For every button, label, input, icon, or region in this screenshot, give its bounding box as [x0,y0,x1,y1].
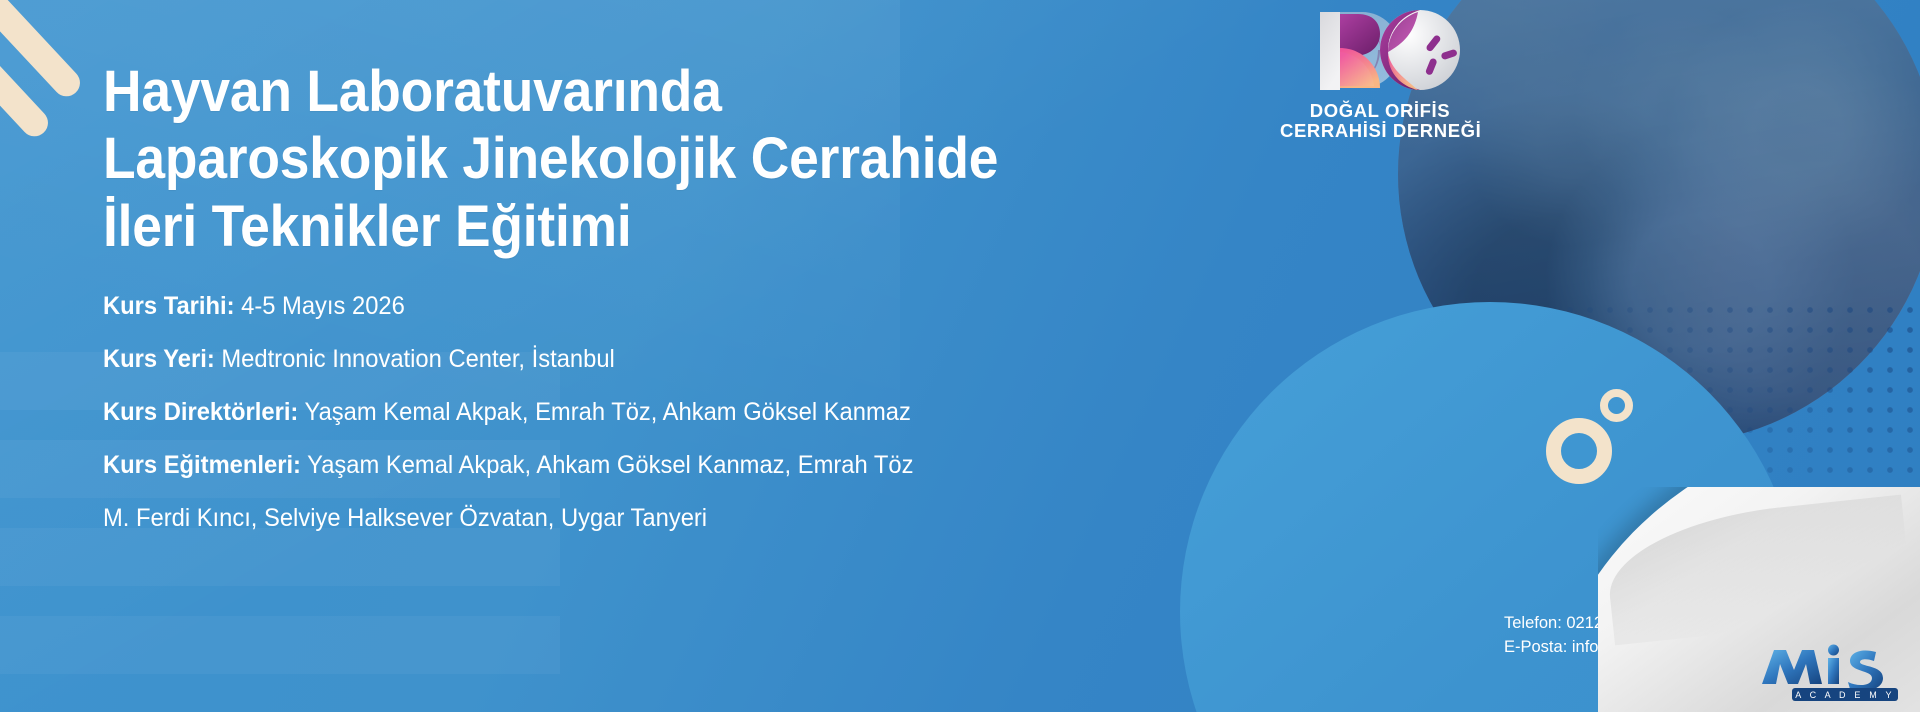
mis-academy-logo: A C A D E M Y [1756,636,1906,706]
association-name: DOĞAL ORİFİS CERRAHİSİ DERNEĞİ [1280,101,1480,141]
detail-label: Kurs Yeri: [103,345,215,373]
butterfly-do-mark-icon [1296,8,1464,94]
detail-row-date: Kurs Tarihi: 4-5 Mayıs 2026 [103,294,1186,319]
detail-row-instructors: Kurs Eğitmenleri: Yaşam Kemal Akpak, Ahk… [103,453,1186,478]
background-band [0,528,560,586]
title-line-2: Laparoskopik Jinekolojik Cerrahide [103,125,1152,192]
association-logo: DOĞAL ORİFİS CERRAHİSİ DERNEĞİ [1280,8,1480,148]
mis-academy-subtitle: A C A D E M Y [1795,690,1894,700]
detail-value: Yaşam Kemal Akpak, Emrah Töz, Ahkam Göks… [298,398,910,426]
banner-content: Hayvan Laboratuvarında Laparoskopik Jine… [103,58,1243,531]
association-name-line2: CERRAHİSİ DERNEĞİ [1280,121,1480,141]
title-line-1: Hayvan Laboratuvarında [103,58,1152,125]
page-title: Hayvan Laboratuvarında Laparoskopik Jine… [103,58,1152,260]
detail-label: Kurs Tarihi: [103,292,235,320]
detail-value: Medtronic Innovation Center, İstanbul [215,345,615,373]
decorative-ring-small [1600,389,1633,422]
background-band [0,616,560,674]
detail-value: 4-5 Mayıs 2026 [235,292,405,320]
detail-row-directors: Kurs Direktörleri: Yaşam Kemal Akpak, Em… [103,400,1186,425]
course-details: Kurs Tarihi: 4-5 Mayıs 2026 Kurs Yeri: M… [103,294,1243,531]
detail-label: Kurs Direktörleri: [103,398,298,426]
title-line-3: İleri Teknikler Eğitimi [103,193,1152,260]
detail-label: Kurs Eğitmenleri: [103,451,301,479]
detail-row-venue: Kurs Yeri: Medtronic Innovation Center, … [103,347,1186,372]
course-promo-banner: DOĞAL ORİFİS CERRAHİSİ DERNEĞİ Hayvan La… [0,0,1920,712]
decorative-ring-large [1546,418,1612,484]
detail-row-instructors-continued: M. Ferdi Kıncı, Selviye Halksever Özvata… [103,506,1186,531]
detail-value: Yaşam Kemal Akpak, Ahkam Göksel Kanmaz, … [301,451,913,479]
association-name-line1: DOĞAL ORİFİS [1280,101,1480,121]
